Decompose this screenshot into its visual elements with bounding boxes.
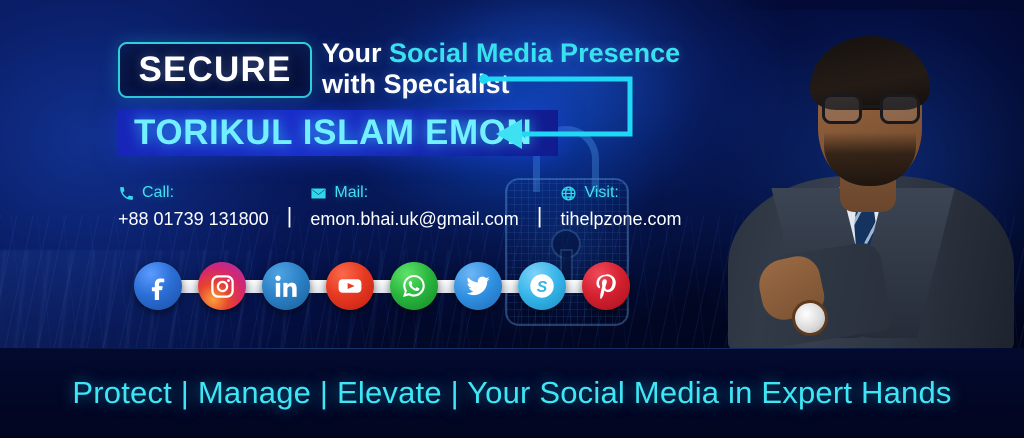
- portrait-hand: [754, 252, 827, 324]
- instagram-icon: [209, 273, 236, 300]
- glasses-bridge: [862, 105, 880, 108]
- tagline-text: Protect | Manage | Elevate | Your Social…: [72, 375, 951, 411]
- whatsapp-icon: [400, 272, 428, 300]
- secure-badge-label: SECURE: [138, 50, 291, 90]
- svg-text:S: S: [537, 279, 548, 296]
- contact-value-website[interactable]: tihelpzone.com: [560, 209, 681, 230]
- contact-label-row: Visit:: [560, 182, 681, 204]
- pinterest-icon: [592, 272, 620, 300]
- skype-icon: S: [527, 271, 557, 301]
- social-link-whatsapp[interactable]: [390, 262, 438, 310]
- contact-value-phone[interactable]: +88 01739 131800: [118, 209, 269, 230]
- social-links-row: S: [134, 262, 630, 310]
- portrait-glow: [664, 10, 1024, 350]
- contact-label: Call:: [142, 184, 174, 202]
- portrait-arm: [748, 240, 892, 350]
- portrait-hair: [810, 36, 930, 110]
- social-link-instagram[interactable]: [198, 262, 246, 310]
- phone-icon: [118, 185, 135, 202]
- contact-label: Mail:: [334, 184, 368, 202]
- portrait-head: [818, 50, 922, 184]
- headline-line-1-plain: Your: [322, 38, 389, 68]
- contact-label-row: Call:: [118, 182, 269, 204]
- connector-arrow-icon: [478, 72, 642, 150]
- portrait-neck: [840, 150, 896, 212]
- social-link-skype[interactable]: S: [518, 262, 566, 310]
- facebook-icon: [145, 273, 172, 300]
- social-link-twitter[interactable]: [454, 262, 502, 310]
- headline-line-1-accent: Social Media Presence: [389, 38, 680, 68]
- social-link-youtube[interactable]: [326, 262, 374, 310]
- portrait-necktie: [850, 196, 880, 324]
- portrait-shirt: [822, 186, 906, 306]
- contact-info-row: Call: +88 01739 131800 | Mail: emon.bhai…: [118, 182, 682, 230]
- linkedin-icon: [273, 273, 300, 300]
- glasses-lens-left: [822, 94, 862, 124]
- contact-value-email[interactable]: emon.bhai.uk@gmail.com: [310, 209, 518, 230]
- portrait-suit-torso: [728, 176, 1014, 352]
- specialist-name: TORIKUL ISLAM EMON: [118, 113, 532, 153]
- social-media-promo-banner: SECURE Your Social Media Presence with S…: [0, 0, 1024, 438]
- portrait-lapel-right: [847, 188, 954, 338]
- contact-item-mail: Mail: emon.bhai.uk@gmail.com: [310, 182, 518, 230]
- portrait-wristwatch: [789, 297, 831, 339]
- globe-icon: [560, 185, 577, 202]
- social-link-linkedin[interactable]: [262, 262, 310, 310]
- headline-line-1: Your Social Media Presence: [322, 38, 642, 69]
- contact-item-call: Call: +88 01739 131800: [118, 182, 269, 230]
- portrait-of-specialist: [694, 0, 1024, 350]
- secure-badge: SECURE: [118, 42, 312, 98]
- glasses-lens-right: [880, 94, 920, 124]
- contact-separator-1: |: [287, 203, 293, 230]
- social-link-facebook[interactable]: [134, 262, 182, 310]
- envelope-icon: [310, 185, 327, 202]
- twitter-icon: [464, 272, 492, 300]
- contact-label-row: Mail:: [310, 182, 518, 204]
- portrait-glasses-icon: [822, 94, 920, 124]
- youtube-icon: [336, 272, 364, 300]
- padlock-keyhole: [553, 231, 579, 257]
- portrait-beard: [824, 132, 916, 186]
- contact-label: Visit:: [584, 184, 618, 202]
- social-link-pinterest[interactable]: [582, 262, 630, 310]
- contact-separator-2: |: [537, 203, 543, 230]
- contact-item-visit: Visit: tihelpzone.com: [560, 182, 681, 230]
- portrait-lapel-left: [771, 188, 878, 338]
- tagline-band: Protect | Manage | Elevate | Your Social…: [0, 348, 1024, 438]
